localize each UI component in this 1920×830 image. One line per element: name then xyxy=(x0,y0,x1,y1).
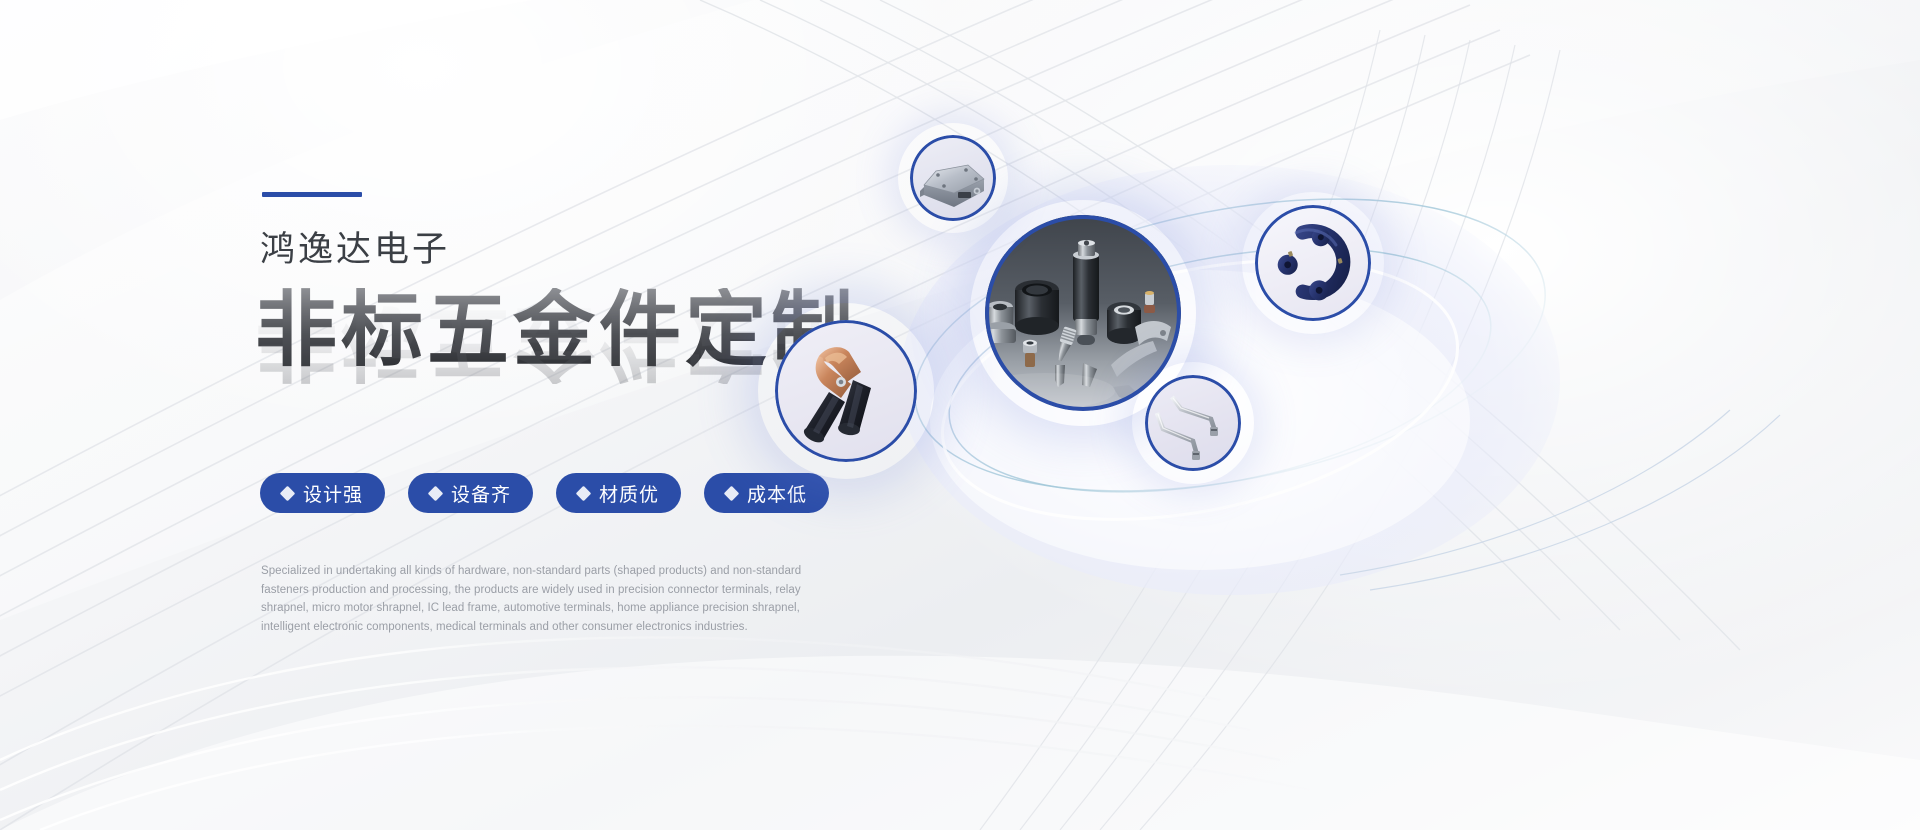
feature-pill-label: 成本低 xyxy=(747,480,807,507)
diamond-icon xyxy=(428,485,444,501)
feature-pill-label: 设备齐 xyxy=(451,480,511,507)
feature-pill-equipment[interactable]: 设备齐 xyxy=(408,473,533,513)
product-photo-terminal-pins xyxy=(1145,375,1241,471)
feature-pill-design[interactable]: 设计强 xyxy=(260,473,385,513)
brand-name: 鸿逸达电子 xyxy=(260,228,450,272)
product-photo-retaining-ring xyxy=(1255,205,1371,321)
product-showcase xyxy=(900,120,1860,680)
product-node-copper-battery-clamp[interactable] xyxy=(775,320,917,462)
product-photo-battery-clamp xyxy=(775,320,917,462)
accent-rule xyxy=(262,192,362,197)
feature-pill-label: 设计强 xyxy=(303,480,363,507)
description-paragraph: Specialized in undertaking all kinds of … xyxy=(261,562,827,637)
diamond-icon xyxy=(724,485,740,501)
product-node-stamped-metal-enclosure[interactable] xyxy=(910,135,996,221)
hero-banner: 鸿逸达电子 非标五金件定制 非标五金件定制 设计强 设备齐 材质优 成本低 xyxy=(0,0,1920,830)
diamond-icon xyxy=(576,485,592,501)
feature-pill-cost[interactable]: 成本低 xyxy=(704,473,829,513)
feature-pill-list: 设计强 设备齐 材质优 成本低 xyxy=(260,473,829,513)
feature-pill-label: 材质优 xyxy=(599,480,659,507)
product-node-bent-metal-terminal-pins[interactable] xyxy=(1145,375,1241,471)
feature-pill-material[interactable]: 材质优 xyxy=(556,473,681,513)
diamond-icon xyxy=(280,485,296,501)
product-photo-metal-enclosure xyxy=(910,135,996,221)
product-node-c-shaped-retaining-ring[interactable] xyxy=(1255,205,1371,321)
